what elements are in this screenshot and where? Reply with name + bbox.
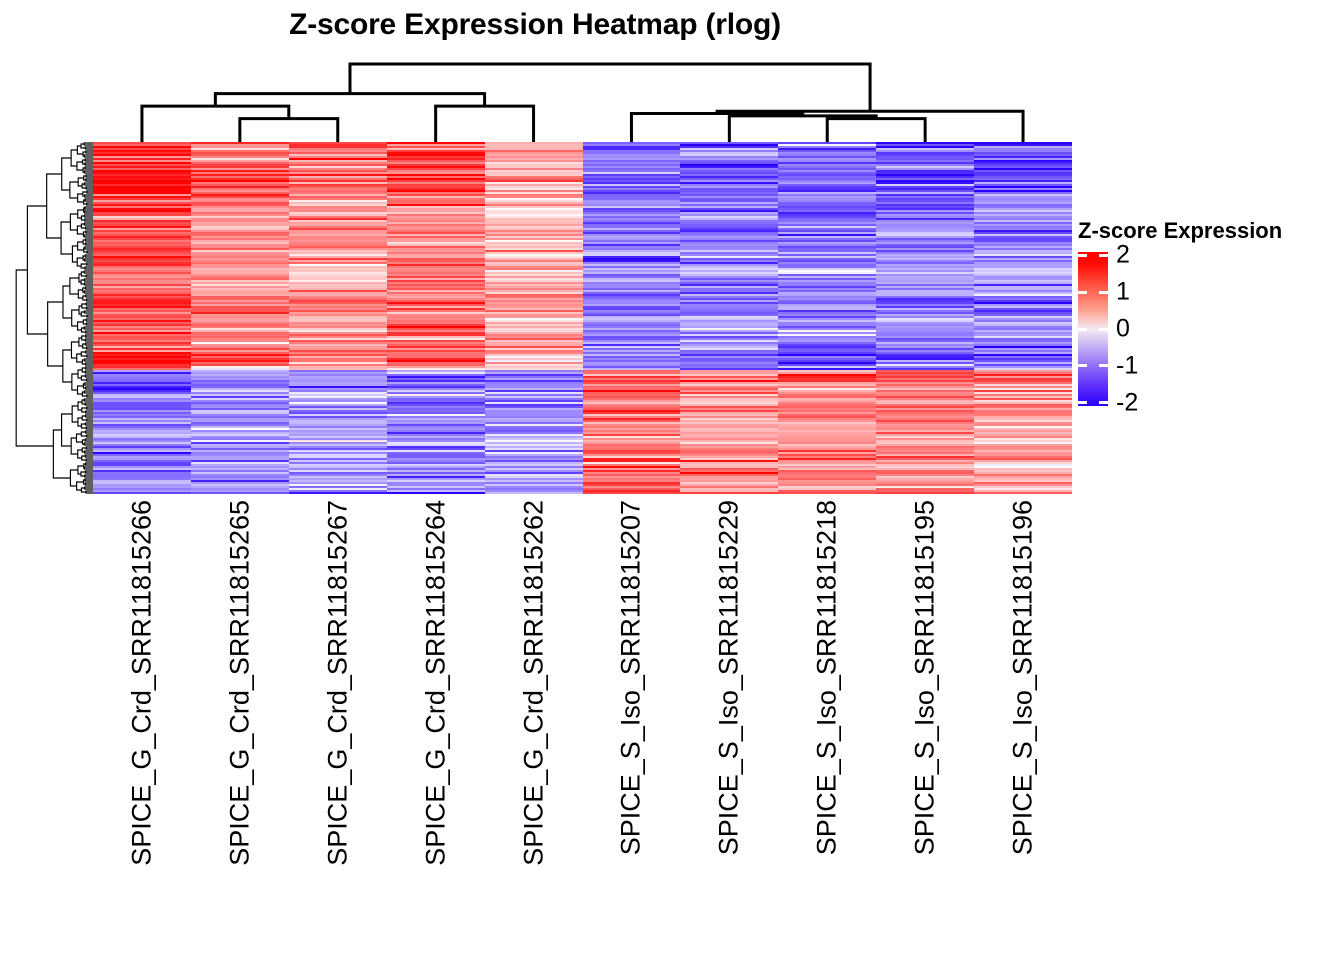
dendrogram-link xyxy=(85,219,93,221)
column-label-text: SPICE_S_Iso_SRR11815207 xyxy=(616,500,647,855)
dendrogram-link xyxy=(240,119,338,142)
dendrogram-link xyxy=(86,351,93,353)
column-label: SPICE_G_Crd_SRR11815264 xyxy=(387,494,485,934)
dendrogram-link xyxy=(85,375,93,377)
column-label-text: SPICE_S_Iso_SRR11815196 xyxy=(1008,500,1039,855)
dendrogram-link xyxy=(86,151,93,153)
legend-tick-label: 1 xyxy=(1116,280,1130,305)
dendrogram-link xyxy=(27,206,47,334)
column-label: SPICE_G_Crd_SRR11815262 xyxy=(485,494,583,934)
dendrogram-link xyxy=(48,302,63,366)
dendrogram-link xyxy=(84,223,93,225)
column-label: SPICE_G_Crd_SRR11815265 xyxy=(191,494,289,934)
dendrogram-link xyxy=(85,339,93,341)
dendrogram-link xyxy=(78,178,84,186)
dendrogram-link xyxy=(77,482,84,490)
legend-body: 210-1-2 xyxy=(1078,252,1328,422)
dendrogram-link xyxy=(84,247,93,249)
dendrogram-link xyxy=(85,167,93,169)
heatmap-column xyxy=(485,142,583,494)
legend-tick-mark xyxy=(1078,401,1087,404)
dendrogram-link xyxy=(436,106,534,142)
dendrogram-link xyxy=(62,414,73,446)
dendrogram-link xyxy=(77,258,83,266)
dendrogram-link xyxy=(84,279,93,281)
dendrogram-link xyxy=(86,243,93,245)
dendrogram-link xyxy=(85,163,93,165)
dendrogram-link xyxy=(85,195,93,197)
dendrogram-link xyxy=(85,199,93,201)
column-label-text: SPICE_G_Crd_SRR11815267 xyxy=(322,500,353,866)
dendrogram-link xyxy=(86,411,93,413)
column-label-text: SPICE_G_Crd_SRR11815262 xyxy=(518,500,549,866)
dendrogram-link xyxy=(84,311,93,313)
column-label: SPICE_S_Iso_SRR11815207 xyxy=(583,494,681,934)
dendrogram-link xyxy=(84,183,93,185)
dendrogram-link xyxy=(84,155,93,157)
column-label-text: SPICE_S_Iso_SRR11815218 xyxy=(812,500,843,855)
dendrogram-link xyxy=(86,415,93,417)
column-label: SPICE_G_Crd_SRR11815266 xyxy=(93,494,191,934)
dendrogram-link xyxy=(71,342,78,358)
dendrogram-link xyxy=(85,371,93,373)
dendrogram-link xyxy=(84,467,93,469)
dendrogram-link xyxy=(86,387,93,389)
dendrogram-link xyxy=(85,483,93,485)
dendrogram-link xyxy=(86,447,93,449)
dendrogram-link xyxy=(85,455,93,457)
legend-tick-mark xyxy=(1078,254,1087,257)
legend-tick-mark xyxy=(1078,364,1087,367)
dendrogram-link xyxy=(77,226,83,234)
dendrogram-link xyxy=(85,147,93,149)
dendrogram-link xyxy=(84,271,93,273)
heatmap-column xyxy=(583,142,681,494)
dendrogram-link xyxy=(77,146,83,154)
page-title: Z-score Expression Heatmap (rlog) xyxy=(0,8,1070,42)
heatmap-figure: Z-score Expression Heatmap (rlog) SPICE_… xyxy=(0,0,1344,960)
dendrogram-link xyxy=(86,335,93,337)
dendrogram-link xyxy=(86,239,93,241)
dendrogram-link xyxy=(86,231,93,233)
column-label-text: SPICE_S_Iso_SRR11815229 xyxy=(714,500,745,855)
dendrogram-link xyxy=(85,259,93,261)
dendrogram-link xyxy=(86,471,93,473)
dendrogram-link xyxy=(84,283,93,285)
dendrogram-link xyxy=(84,235,93,237)
dendrogram-link xyxy=(72,406,78,422)
dendrogram-link xyxy=(85,403,93,405)
dendrogram-link xyxy=(350,64,870,111)
column-label: SPICE_S_Iso_SRR11815195 xyxy=(876,494,974,934)
dendrogram-link xyxy=(86,427,93,429)
dendrogram-link xyxy=(86,319,93,321)
dendrogram-link xyxy=(47,174,62,238)
dendrogram-link xyxy=(85,439,93,441)
dendrogram-link xyxy=(84,359,93,361)
column-label-text: SPICE_G_Crd_SRR11815264 xyxy=(420,500,451,866)
legend-tick-label: -1 xyxy=(1116,353,1138,378)
dendrogram-link xyxy=(84,399,93,401)
dendrogram-link xyxy=(84,171,93,173)
dendrogram-link xyxy=(85,207,93,209)
column-label-text: SPICE_S_Iso_SRR11815195 xyxy=(910,500,941,855)
legend-tick-mark xyxy=(1099,254,1108,257)
legend: Z-score Expression 210-1-2 xyxy=(1078,218,1328,422)
legend-tick-mark xyxy=(1099,364,1108,367)
dendrogram-link xyxy=(86,303,93,305)
row-dendrogram xyxy=(14,142,93,494)
dendrogram-link xyxy=(86,275,93,277)
dendrogram-link xyxy=(215,94,484,106)
column-label: SPICE_S_Iso_SRR11815196 xyxy=(974,494,1072,934)
dendrogram-link xyxy=(86,459,93,461)
heatmap-column xyxy=(387,142,485,494)
legend-tick-label: 2 xyxy=(1116,243,1130,268)
dendrogram-link xyxy=(86,463,93,465)
dendrogram-link xyxy=(84,291,93,293)
heatmap-column xyxy=(680,142,778,494)
dendrogram-link xyxy=(78,290,83,298)
heatmap-column xyxy=(876,142,974,494)
dendrogram-link xyxy=(86,179,93,181)
dendrogram-link xyxy=(84,143,93,145)
dendrogram-link xyxy=(86,431,93,433)
dendrogram-link xyxy=(86,491,93,493)
legend-tick-mark xyxy=(1099,401,1108,404)
dendrogram-link xyxy=(86,367,93,369)
dendrogram-link xyxy=(84,391,93,393)
dendrogram-link xyxy=(84,443,93,445)
dendrogram-link xyxy=(86,295,93,297)
heatmap-grid xyxy=(93,142,1072,494)
heatmap-column xyxy=(778,142,876,494)
legend-tick-mark xyxy=(1099,291,1108,294)
dendrogram-link xyxy=(85,475,93,477)
dendrogram-link xyxy=(63,350,72,382)
dendrogram-link xyxy=(85,159,93,161)
dendrogram-link xyxy=(85,211,93,213)
column-label: SPICE_S_Iso_SRR11815229 xyxy=(680,494,778,934)
dendrogram-link xyxy=(78,322,84,330)
heatmap-column xyxy=(191,142,289,494)
dendrogram-link xyxy=(85,255,93,257)
legend-tick-label: -2 xyxy=(1116,390,1138,415)
dendrogram-link xyxy=(85,423,93,425)
dendrogram-link xyxy=(70,182,78,198)
dendrogram-link xyxy=(86,227,93,229)
legend-tick-label: 0 xyxy=(1116,317,1130,342)
dendrogram-link xyxy=(70,278,79,294)
dendrogram-link xyxy=(86,331,93,333)
column-label-text: SPICE_G_Crd_SRR11815265 xyxy=(224,500,255,866)
dendrogram-link xyxy=(86,363,93,365)
dendrogram-link xyxy=(85,487,93,489)
dendrogram-link xyxy=(86,187,93,189)
dendrogram-link xyxy=(84,215,93,217)
column-labels: SPICE_G_Crd_SRR11815266SPICE_G_Crd_SRR11… xyxy=(93,494,1072,934)
dendrogram-link xyxy=(86,343,93,345)
column-label: SPICE_S_Iso_SRR11815218 xyxy=(778,494,876,934)
heatmap-column xyxy=(93,142,191,494)
dendrogram-link xyxy=(70,214,77,230)
dendrogram-link xyxy=(85,267,93,269)
dendrogram-link xyxy=(84,327,93,329)
dendrogram-link xyxy=(85,479,93,481)
dendrogram-link xyxy=(84,383,93,385)
column-label-text: SPICE_G_Crd_SRR11815266 xyxy=(126,500,157,866)
heatmap-column xyxy=(974,142,1072,494)
heatmap-column xyxy=(289,142,387,494)
dendrogram-link xyxy=(85,287,93,289)
legend-tick-mark xyxy=(1078,291,1087,294)
dendrogram-link xyxy=(827,119,925,142)
dendrogram-link xyxy=(78,210,84,218)
legend-tick-mark xyxy=(1099,328,1108,331)
column-dendrogram xyxy=(93,58,1072,142)
dendrogram-link xyxy=(631,114,802,142)
dendrogram-link xyxy=(85,451,93,453)
legend-colorbar xyxy=(1078,252,1108,406)
legend-tick-mark xyxy=(1078,328,1087,331)
column-label: SPICE_G_Crd_SRR11815267 xyxy=(289,494,387,934)
dendrogram-link xyxy=(86,175,93,177)
dendrogram-link xyxy=(142,106,289,142)
